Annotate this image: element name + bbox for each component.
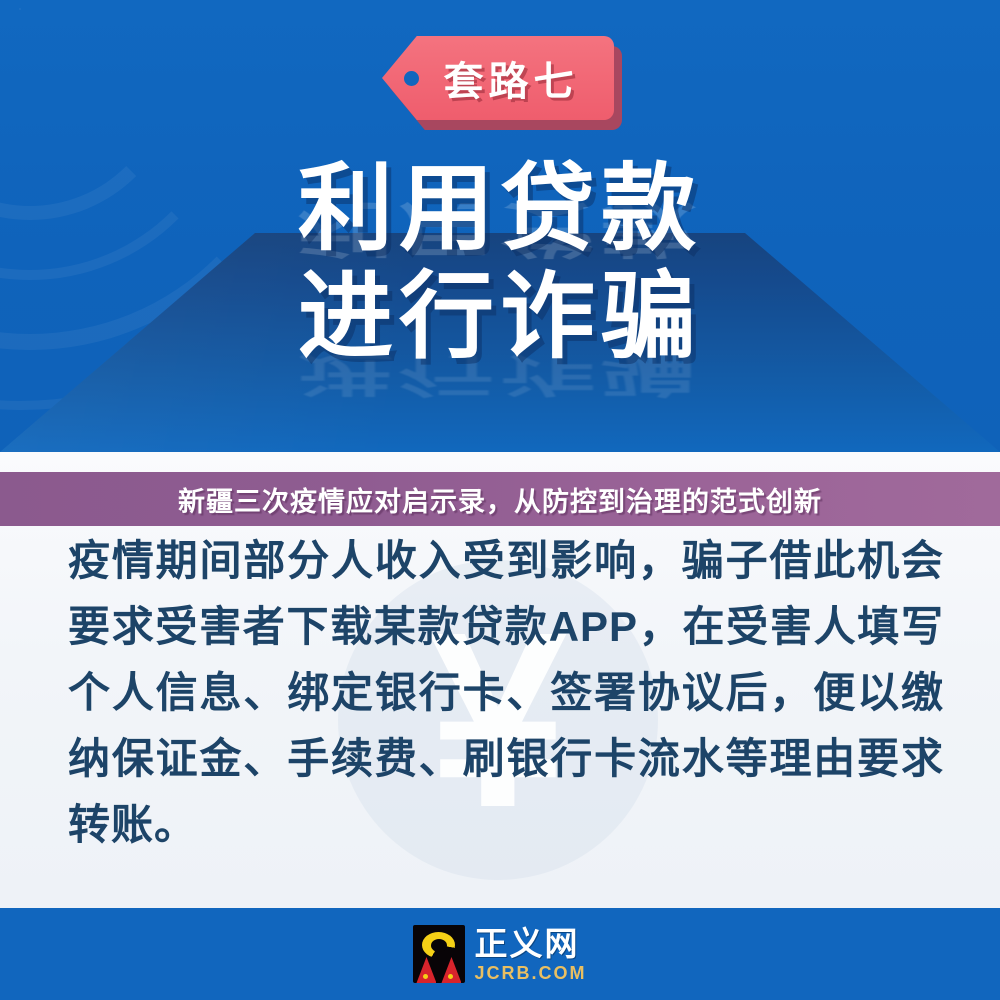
badge-label: 套路七 <box>382 36 614 120</box>
content-section: ¥ 新疆三次疫情应对启示录，从防控到治理的范式创新 疫情期间部分人收入受到影响，… <box>0 452 1000 908</box>
hero-section: 利用贷款 进行诈骗 利用贷款 进行诈骗 套路七 <box>0 0 1000 452</box>
emblem-peak-right-icon <box>441 957 461 983</box>
emblem-peak-left-icon <box>416 957 436 983</box>
logo-name-cn: 正义网 <box>474 927 586 960</box>
poster-root: 利用贷款 进行诈骗 利用贷款 进行诈骗 套路七 ¥ 新疆三次疫情应对启示录，从防… <box>0 0 1000 1000</box>
site-logo[interactable]: 正义网 JCRB.COM <box>413 925 586 983</box>
badge-tag: 套路七 <box>382 36 614 120</box>
jcrb-emblem-icon <box>413 925 465 983</box>
footer-section: 正义网 JCRB.COM <box>0 908 1000 1000</box>
body-paragraph: 疫情期间部分人收入受到影响，骗子借此机会要求受害者下载某款贷款APP，在受害人填… <box>68 528 944 858</box>
headline-banner-text: 新疆三次疫情应对启示录，从防控到治理的范式创新 <box>178 480 822 519</box>
logo-text-group: 正义网 JCRB.COM <box>474 927 586 982</box>
headline-banner: 新疆三次疫情应对启示录，从防控到治理的范式创新 <box>0 472 1000 526</box>
logo-name-en: JCRB.COM <box>474 964 586 982</box>
